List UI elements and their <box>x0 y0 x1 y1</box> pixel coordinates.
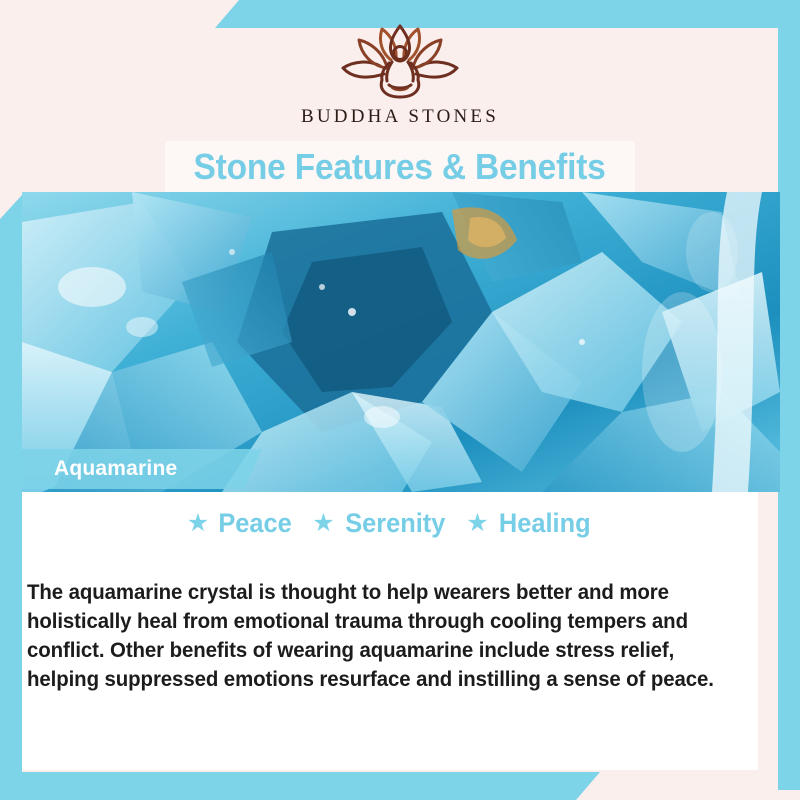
stone-name-banner: Aquamarine <box>22 449 262 489</box>
brand-header: BUDDHA STONES <box>0 0 800 145</box>
aquamarine-crystal-photo <box>22 192 780 492</box>
page-title: Stone Features & Benefits <box>194 146 606 188</box>
stone-name-label: Aquamarine <box>22 457 177 481</box>
lotus-meditation-figure-icon <box>336 22 464 104</box>
keyword-label: Serenity <box>345 508 445 539</box>
brand-name: BUDDHA STONES <box>301 106 499 128</box>
keyword-item-healing: ★ Healing <box>466 508 593 539</box>
keyword-item-serenity: ★ Serenity <box>312 508 448 539</box>
keyword-item-peace: ★ Peace <box>187 508 295 539</box>
description-paragraph: The aquamarine crystal is thought to hel… <box>27 578 717 694</box>
star-icon: ★ <box>312 511 334 536</box>
decorative-band-bottom <box>0 772 600 800</box>
keyword-label: Healing <box>499 508 591 539</box>
star-icon: ★ <box>466 511 488 536</box>
decorative-band-left <box>0 195 22 800</box>
star-icon: ★ <box>187 511 209 536</box>
keyword-row: ★ Peace ★ Serenity ★ Healing <box>22 508 758 539</box>
title-strip: Stone Features & Benefits <box>165 141 635 193</box>
infographic-poster: BUDDHA STONES Stone Features & Benefits <box>0 0 800 800</box>
keyword-label: Peace <box>219 508 292 539</box>
